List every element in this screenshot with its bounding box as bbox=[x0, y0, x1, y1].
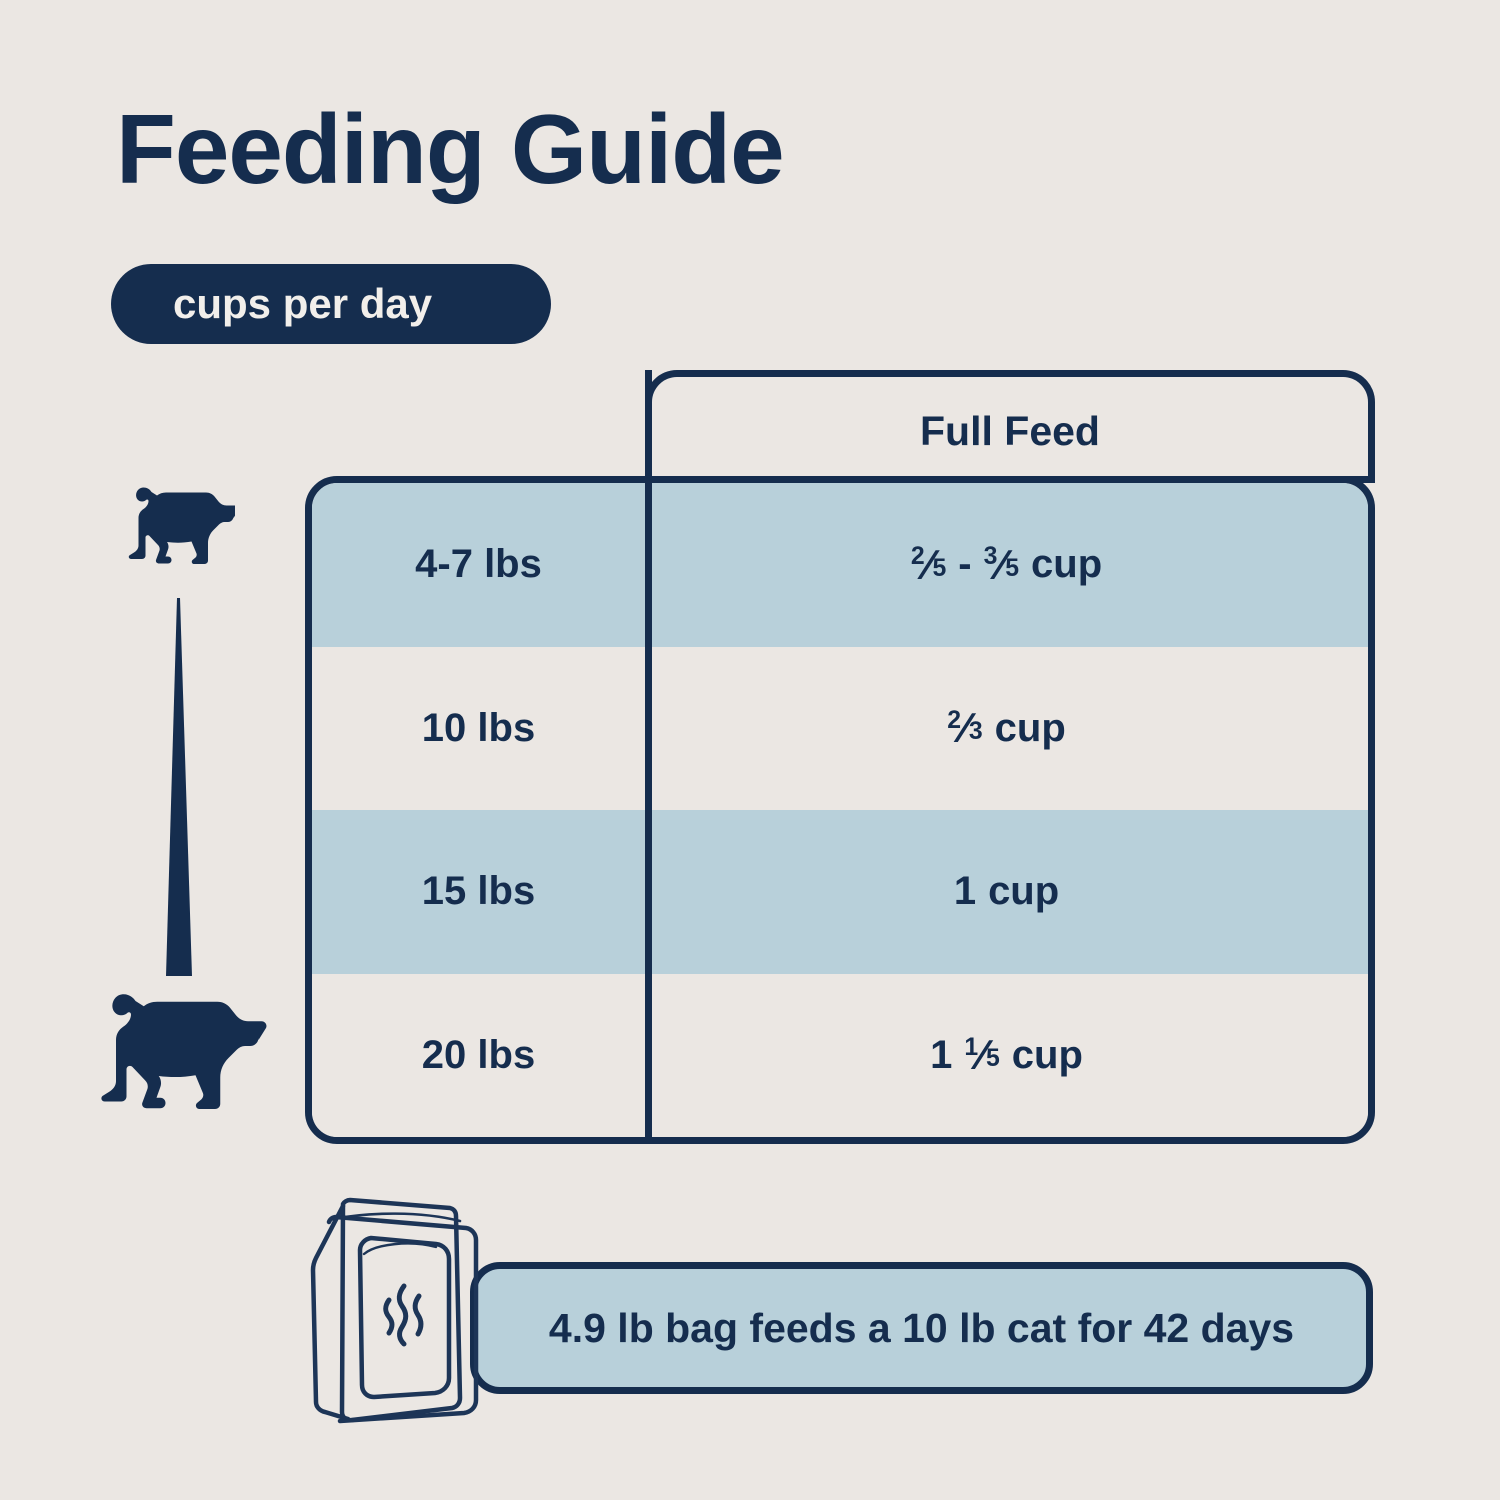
pet-food-bag-icon bbox=[300, 1188, 510, 1428]
amount-value: 11⁄5cup bbox=[930, 1031, 1083, 1079]
cat-walking-icon-small bbox=[120, 478, 235, 578]
column-header-label: Full Feed bbox=[920, 408, 1100, 455]
size-increase-wedge-icon bbox=[158, 598, 198, 976]
feeding-table: Full Feed 4-7 lbs2⁄5-3⁄5cup10 lbs2⁄3cup1… bbox=[305, 370, 1375, 1145]
table-row: 4-7 lbs2⁄5-3⁄5cup bbox=[312, 483, 1368, 647]
amount-text: cup bbox=[995, 706, 1066, 751]
badge-label: cups per day bbox=[173, 280, 432, 328]
fraction: 3⁄5 bbox=[984, 541, 1019, 589]
cell-full-feed-amount: 1cup bbox=[645, 810, 1368, 974]
fraction: 2⁄5 bbox=[911, 541, 946, 589]
amount-value: 2⁄5-3⁄5cup bbox=[911, 541, 1102, 589]
weight-label: 4-7 lbs bbox=[415, 542, 542, 587]
cat-walking-icon-large bbox=[82, 980, 267, 1130]
table-header-full-feed: Full Feed bbox=[645, 370, 1375, 482]
infographic-canvas: Feeding Guide cups per day Full Feed 4 bbox=[0, 0, 1500, 1500]
cell-weight: 20 lbs bbox=[312, 974, 645, 1138]
table-body: 4-7 lbs2⁄5-3⁄5cup10 lbs2⁄3cup15 lbs1cup2… bbox=[305, 476, 1375, 1144]
cell-full-feed-amount: 2⁄5-3⁄5cup bbox=[645, 483, 1368, 647]
amount-text: 1 bbox=[930, 1033, 952, 1078]
table-rows: 4-7 lbs2⁄5-3⁄5cup10 lbs2⁄3cup15 lbs1cup2… bbox=[312, 483, 1368, 1137]
fraction: 2⁄3 bbox=[947, 704, 982, 752]
cell-weight: 15 lbs bbox=[312, 810, 645, 974]
page-title: Feeding Guide bbox=[116, 100, 784, 198]
weight-label: 10 lbs bbox=[422, 706, 535, 751]
size-scale-column bbox=[70, 470, 300, 1130]
table-column-divider bbox=[645, 370, 652, 1144]
cell-weight: 10 lbs bbox=[312, 647, 645, 811]
bag-duration-banner: 4.9 lb bag feeds a 10 lb cat for 42 days bbox=[470, 1262, 1373, 1394]
amount-text: - bbox=[958, 542, 971, 587]
table-header-rule bbox=[645, 476, 1375, 483]
amount-text: cup bbox=[1012, 1033, 1083, 1078]
amount-text: cup bbox=[988, 869, 1059, 914]
amount-text: 1 bbox=[954, 869, 976, 914]
table-row: 15 lbs1cup bbox=[312, 810, 1368, 974]
fraction: 1⁄5 bbox=[964, 1031, 999, 1079]
cell-full-feed-amount: 2⁄3cup bbox=[645, 647, 1368, 811]
bag-duration-label: 4.9 lb bag feeds a 10 lb cat for 42 days bbox=[549, 1305, 1294, 1352]
amount-value: 2⁄3cup bbox=[947, 704, 1066, 752]
amount-value: 1cup bbox=[954, 869, 1059, 914]
cell-full-feed-amount: 11⁄5cup bbox=[645, 974, 1368, 1138]
table-row: 20 lbs11⁄5cup bbox=[312, 974, 1368, 1138]
table-row: 10 lbs2⁄3cup bbox=[312, 647, 1368, 811]
amount-text: cup bbox=[1031, 542, 1102, 587]
weight-label: 15 lbs bbox=[422, 869, 535, 914]
cups-per-day-badge: cups per day bbox=[111, 264, 551, 344]
cell-weight: 4-7 lbs bbox=[312, 483, 645, 647]
weight-label: 20 lbs bbox=[422, 1033, 535, 1078]
